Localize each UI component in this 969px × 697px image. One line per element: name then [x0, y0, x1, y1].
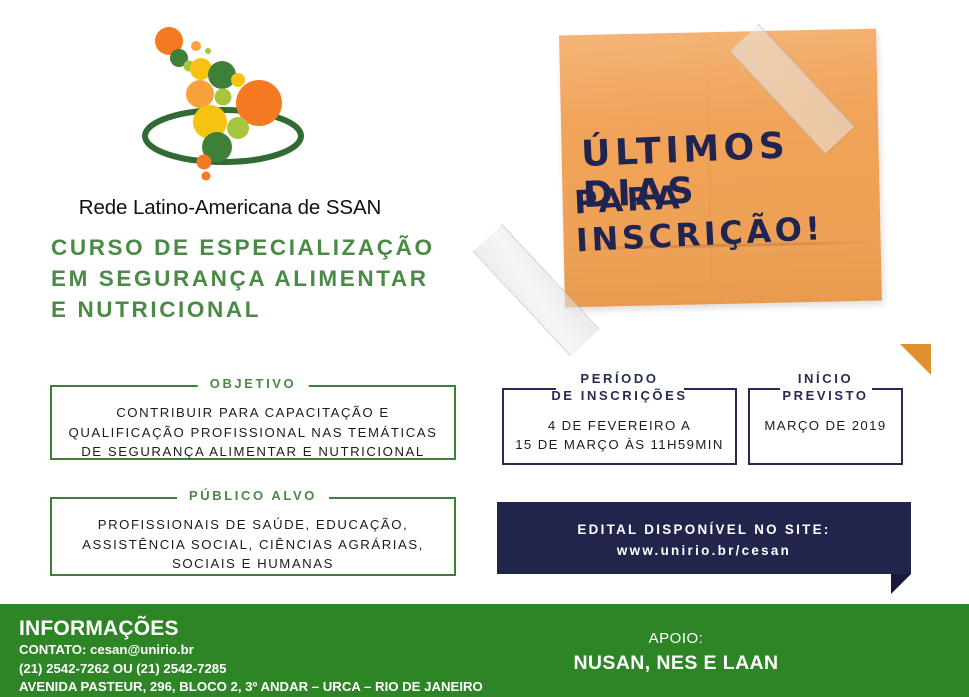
- page-title-line-2: EM SEGURANÇA ALIMENTAR: [51, 263, 481, 294]
- expected-start-box-body: MARÇO DE 2019: [752, 416, 899, 435]
- target-audience-line-2: ASSISTÊNCIA SOCIAL, CIÊNCIAS AGRÁRIAS,: [58, 535, 448, 555]
- objective-line-1: CONTRIBUIR PARA CAPACITAÇÃO E: [58, 403, 448, 423]
- registration-period-box-body: 4 DE FEVEREIRO A 15 DE MARÇO ÀS 11H59MIN: [506, 416, 733, 454]
- edital-banner-line-1: EDITAL DISPONÍVEL NO SITE:: [497, 519, 911, 540]
- registration-period-title-line-1: PERÍODO: [502, 370, 737, 387]
- expected-start-box: INÍCIO PREVISTO MARÇO DE 2019: [748, 370, 903, 465]
- logo-caption: Rede Latino-Americana de SSAN: [0, 196, 460, 220]
- registration-period-box-title: PERÍODO DE INSCRIÇÕES: [502, 370, 737, 404]
- poster-canvas: Rede Latino-Americana de SSAN CURSO DE E…: [0, 0, 969, 697]
- objective-box-body: CONTRIBUIR PARA CAPACITAÇÃO E QUALIFICAÇ…: [58, 403, 448, 462]
- footer-information-title: INFORMAÇÕES: [19, 616, 483, 641]
- page-title: CURSO DE ESPECIALIZAÇÃO EM SEGURANÇA ALI…: [51, 232, 481, 325]
- note-folded-corner: [900, 344, 931, 375]
- expected-start-title-line-2: PREVISTO: [748, 387, 903, 404]
- expected-start-box-title: INÍCIO PREVISTO: [748, 370, 903, 404]
- target-audience-line-1: PROFISSIONAIS DE SAÚDE, EDUCAÇÃO,: [58, 515, 448, 535]
- target-audience-line-3: SOCIAIS E HUMANAS: [58, 554, 448, 574]
- objective-box: OBJETIVO CONTRIBUIR PARA CAPACITAÇÃO E Q…: [50, 385, 456, 460]
- footer-support-label: APOIO:: [566, 628, 786, 650]
- sticky-note-text: ÚLTIMOS DIAS PARA INSCRIÇÃO!: [565, 29, 881, 308]
- footer-address-line: AVENIDA PASTEUR, 296, BLOCO 2, 3º ANDAR …: [19, 678, 483, 697]
- rede-latino-americana-ssan-logo-icon: [118, 18, 328, 193]
- objective-line-3: DE SEGURANÇA ALIMENTAR E NUTRICIONAL: [58, 442, 448, 462]
- footer-support-block: APOIO: NUSAN, NES E LAAN: [566, 628, 786, 676]
- target-audience-box: PÚBLICO ALVO PROFISSIONAIS DE SAÚDE, EDU…: [50, 497, 456, 576]
- edital-banner[interactable]: EDITAL DISPONÍVEL NO SITE: www.unirio.br…: [497, 502, 911, 574]
- expected-start-line-1: MARÇO DE 2019: [752, 416, 899, 435]
- footer-bar: INFORMAÇÕES CONTATO: cesan@unirio.br (21…: [0, 604, 969, 697]
- registration-period-line-2: 15 DE MARÇO ÀS 11H59MIN: [506, 435, 733, 454]
- sticky-note-line-2: PARA INSCRIÇÃO!: [573, 168, 880, 259]
- page-title-line-1: CURSO DE ESPECIALIZAÇÃO: [51, 232, 481, 263]
- target-audience-box-title: PÚBLICO ALVO: [177, 488, 329, 503]
- logo-block: Rede Latino-Americana de SSAN: [0, 18, 470, 218]
- sticky-note: ÚLTIMOS DIAS PARA INSCRIÇÃO!: [510, 14, 930, 344]
- target-audience-box-body: PROFISSIONAIS DE SAÚDE, EDUCAÇÃO, ASSIST…: [58, 515, 448, 574]
- footer-phone-line: (21) 2542-7262 OU (21) 2542-7285: [19, 660, 483, 679]
- footer-support-value: NUSAN, NES E LAAN: [566, 650, 786, 676]
- registration-period-title-line-2: DE INSCRIÇÕES: [502, 387, 737, 404]
- footer-information-block: INFORMAÇÕES CONTATO: cesan@unirio.br (21…: [19, 616, 483, 697]
- footer-contact-email-line[interactable]: CONTATO: cesan@unirio.br: [19, 641, 483, 660]
- objective-box-title: OBJETIVO: [198, 376, 309, 391]
- banner-ribbon-fold: [891, 574, 911, 594]
- edital-banner-text: EDITAL DISPONÍVEL NO SITE: www.unirio.br…: [497, 519, 911, 561]
- registration-period-box: PERÍODO DE INSCRIÇÕES 4 DE FEVEREIRO A 1…: [502, 370, 737, 465]
- objective-line-2: QUALIFICAÇÃO PROFISSIONAL NAS TEMÁTICAS: [58, 423, 448, 443]
- registration-period-line-1: 4 DE FEVEREIRO A: [506, 416, 733, 435]
- page-title-line-3: E NUTRICIONAL: [51, 294, 481, 325]
- expected-start-title-line-1: INÍCIO: [748, 370, 903, 387]
- edital-website-url[interactable]: www.unirio.br/cesan: [497, 540, 911, 561]
